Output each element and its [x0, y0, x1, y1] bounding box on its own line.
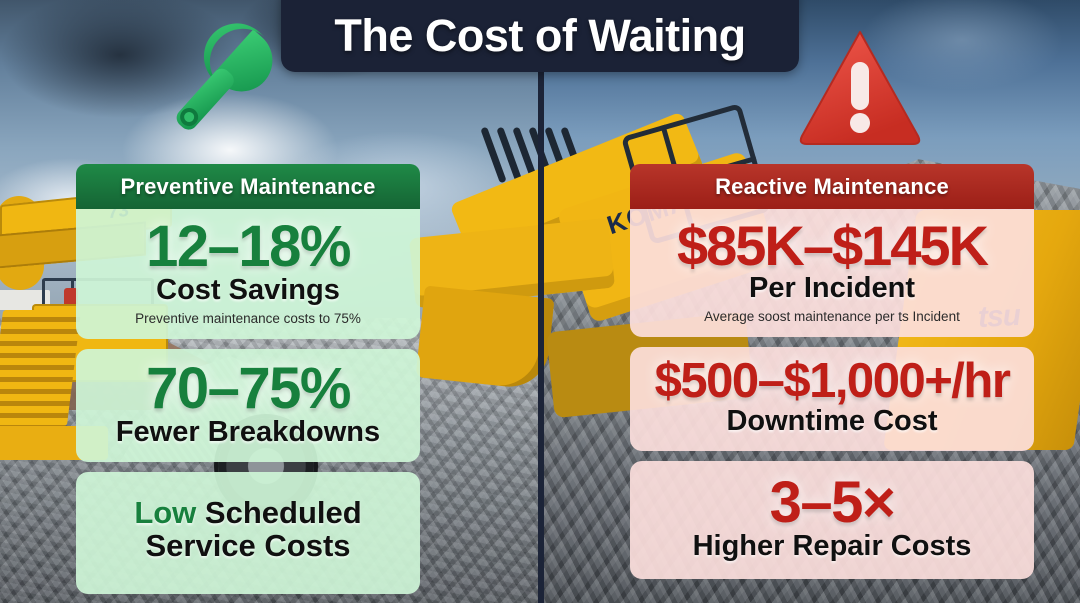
warning-triangle-icon — [796, 24, 924, 150]
preventive-card-3-highlight: Low — [134, 495, 196, 530]
preventive-card-3-label-line2: Service Costs — [86, 529, 410, 564]
reactive-card-1-note: Average soost maintenance per ts Inciden… — [640, 309, 1024, 325]
preventive-card-1: 12–18% Cost Savings Preventive maintenan… — [76, 209, 420, 339]
preventive-card-1-note: Preventive maintenance costs to 75% — [86, 311, 410, 327]
reactive-card-1: $85K–$145K Per Incident Average soost ma… — [630, 209, 1034, 337]
preventive-card-3-label-line1: Low Scheduled — [86, 496, 410, 531]
reactive-card-1-value: $85K–$145K — [640, 217, 1024, 274]
infographic-canvas: 73 KOMA tsu The Cost of Waiting — [0, 0, 1080, 603]
reactive-card-3-value: 3–5× — [640, 473, 1024, 532]
wrench-icon — [158, 12, 286, 152]
preventive-card-3: Low Scheduled Service Costs — [76, 472, 420, 593]
reactive-card-2-label: Downtime Cost — [640, 405, 1024, 437]
reactive-card-3-label: Higher Repair Costs — [640, 530, 1024, 562]
reactive-card-2-value: $500–$1,000+/hr — [626, 357, 1038, 407]
preventive-card-3-rest: Scheduled — [196, 495, 361, 530]
preventive-card-1-label: Cost Savings — [86, 274, 410, 306]
preventive-panel-heading: Preventive Maintenance — [76, 164, 420, 209]
reactive-maintenance-panel: Reactive Maintenance $85K–$145K Per Inci… — [630, 164, 1034, 579]
preventive-card-1-value: 12–18% — [86, 217, 410, 276]
reactive-card-3: 3–5× Higher Repair Costs — [630, 461, 1034, 579]
preventive-card-2: 70–75% Fewer Breakdowns — [76, 349, 420, 463]
vertical-divider — [538, 0, 544, 603]
page-title: The Cost of Waiting — [334, 10, 745, 62]
reactive-card-2: $500–$1,000+/hr Downtime Cost — [630, 347, 1034, 451]
preventive-card-2-label: Fewer Breakdowns — [86, 416, 410, 448]
preventive-card-2-value: 70–75% — [86, 359, 410, 418]
reactive-panel-heading: Reactive Maintenance — [630, 164, 1034, 209]
preventive-maintenance-panel: Preventive Maintenance 12–18% Cost Savin… — [76, 164, 420, 594]
title-banner: The Cost of Waiting — [281, 0, 799, 72]
